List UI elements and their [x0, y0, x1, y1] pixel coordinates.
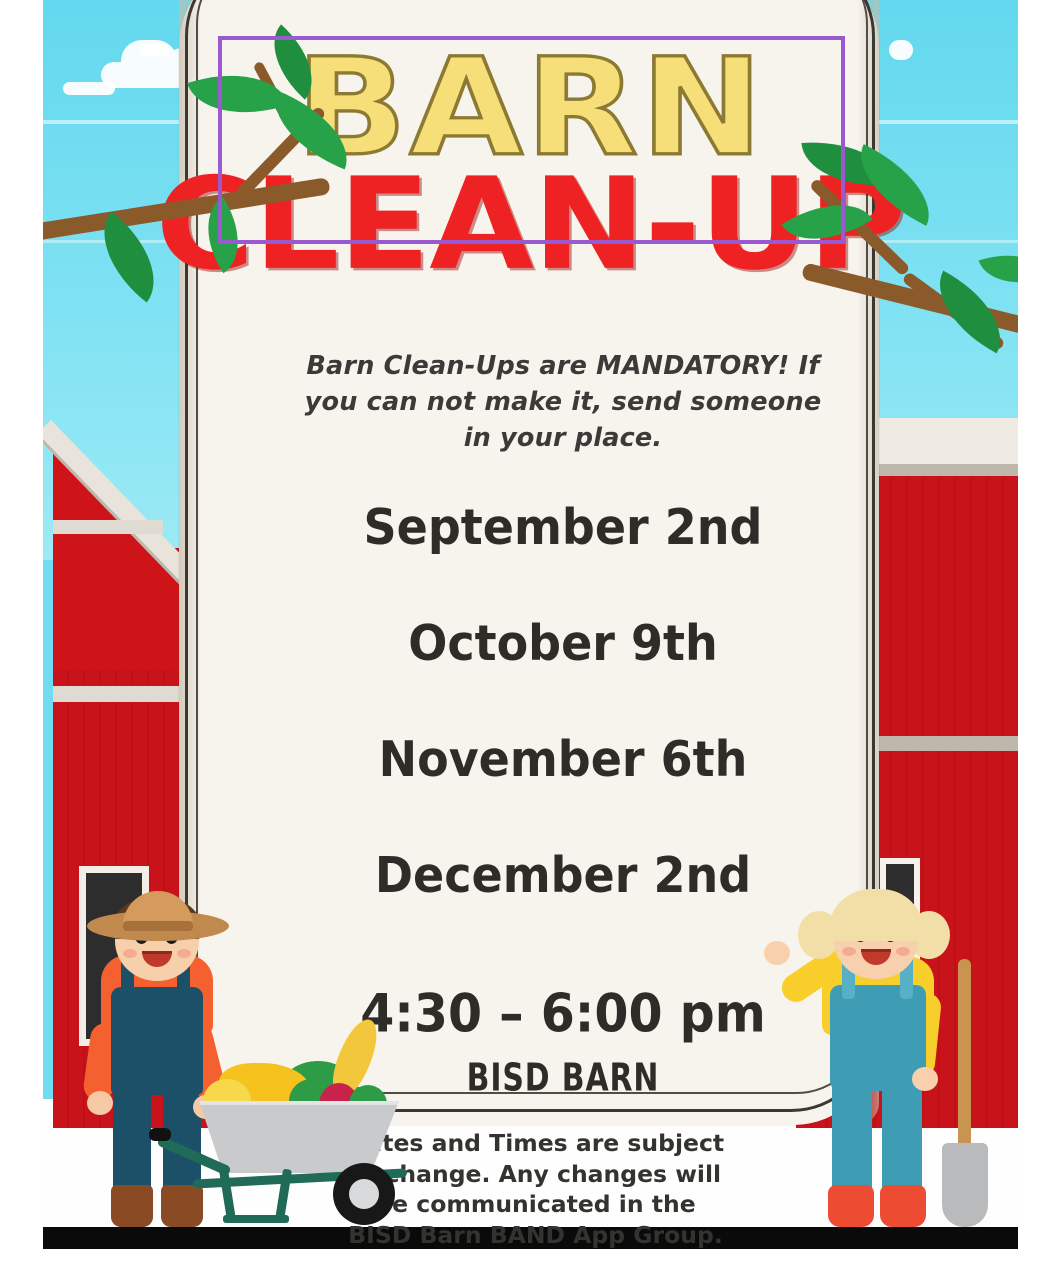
- cheek-blush: [123, 949, 137, 958]
- straw-hat-band: [123, 921, 193, 931]
- girl-leg-left: [832, 1073, 872, 1193]
- wheelbarrow-grip: [149, 1128, 171, 1141]
- farm-girl-figure: [782, 927, 972, 1227]
- date-item: November 6th: [233, 730, 893, 788]
- mandatory-note: Barn Clean-Ups are MANDATORY! If you can…: [293, 348, 833, 457]
- date-item: October 9th: [233, 614, 893, 672]
- barn-left-trim-upper: [53, 520, 163, 534]
- date-item: September 2nd: [233, 498, 893, 556]
- cheek-blush: [896, 947, 910, 956]
- wheelbarrow-wheel: [333, 1163, 395, 1225]
- shovel-blade: [942, 1143, 988, 1227]
- screenshot-root: BARN CLEAN-UP Barn Clean-Ups are MANDATO…: [0, 0, 1062, 1279]
- flyer-image: BARN CLEAN-UP Barn Clean-Ups are MANDATO…: [43, 0, 1018, 1249]
- smile-icon: [142, 951, 172, 967]
- girl-boot-left: [828, 1185, 874, 1227]
- girl-boot-right: [880, 1185, 926, 1227]
- girl-hand-lowered: [912, 1067, 938, 1091]
- boy-boot-left: [111, 1185, 153, 1227]
- shovel-handle: [958, 959, 971, 1151]
- date-item: December 2nd: [233, 846, 893, 904]
- girl-hand-raised: [764, 941, 790, 965]
- smile-icon: [861, 949, 891, 965]
- wheelbarrow-crossbar: [223, 1215, 289, 1223]
- cheek-blush: [177, 949, 191, 958]
- dates-list: September 2nd October 9th November 6th D…: [233, 500, 893, 902]
- boy-hand-left: [87, 1091, 113, 1115]
- girl-leg-right: [882, 1073, 922, 1193]
- cheek-blush: [842, 947, 856, 956]
- wheelbarrow: [163, 1037, 413, 1227]
- wheelbarrow-tray: [199, 1101, 399, 1173]
